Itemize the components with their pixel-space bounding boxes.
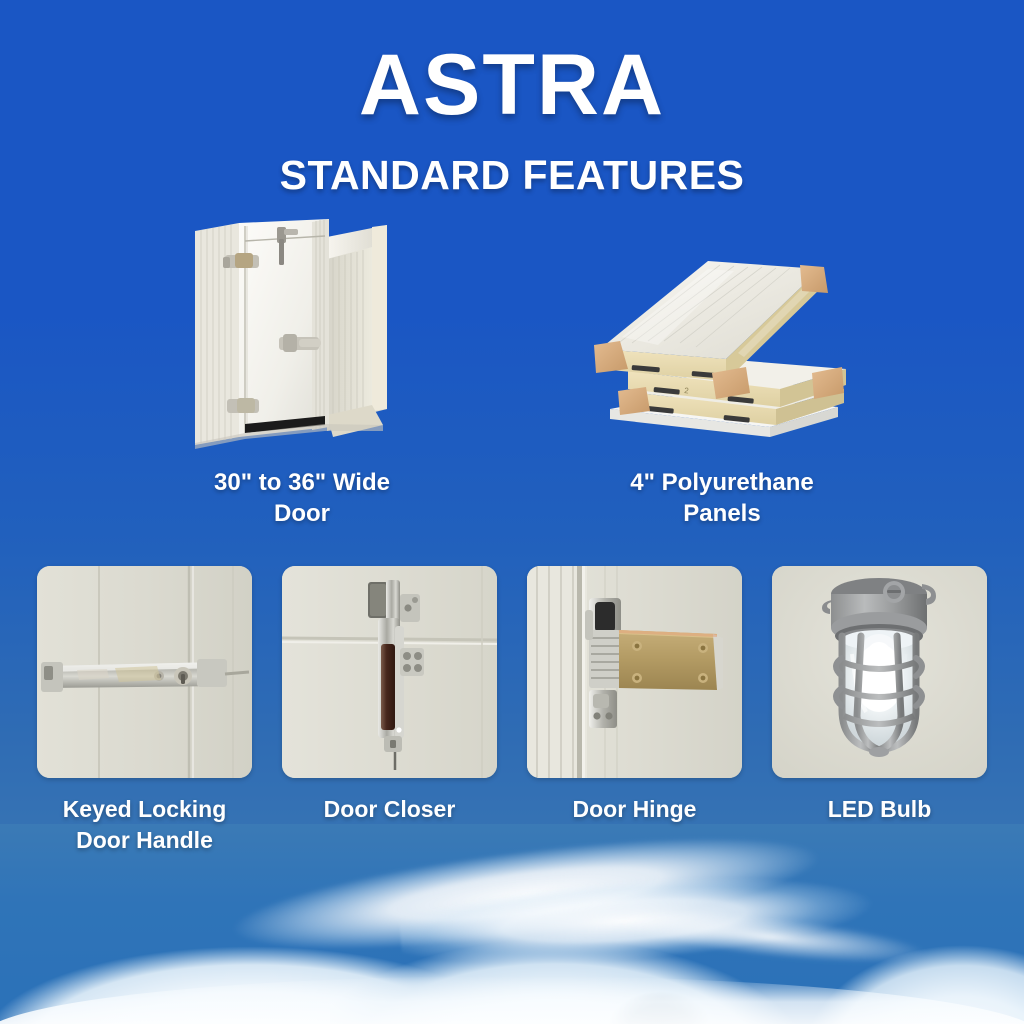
rock-outcrop xyxy=(600,978,720,1024)
caption-line-1: 4" Polyurethane xyxy=(557,467,887,499)
led-vapor-fixture-icon xyxy=(772,566,987,778)
feature-caption: Door Closer xyxy=(282,794,497,825)
walk-in-cooler-icon xyxy=(187,219,417,451)
feature-row-bottom: Keyed Locking Door Handle xyxy=(0,566,1024,856)
feature-caption: Keyed Locking Door Handle xyxy=(37,794,252,856)
corner-protector xyxy=(800,265,828,293)
feature-caption: 30" to 36" Wide Door xyxy=(137,467,467,530)
insulated-panels-icon: 2 xyxy=(588,241,856,451)
door-latch-icon xyxy=(37,566,252,778)
caption-line-2: Door Handle xyxy=(37,825,252,856)
closer-mount-plate xyxy=(400,648,424,676)
door-hinge-bottom xyxy=(227,398,259,413)
feature-tile-door-closer: Door Closer xyxy=(282,566,497,856)
hinge-brass-plate xyxy=(619,630,723,690)
door-hinge-photo xyxy=(527,566,742,778)
caption-line-1: LED Bulb xyxy=(772,794,987,825)
door-hinge-icon xyxy=(527,566,742,778)
lenticular-cloud-secondary xyxy=(397,845,963,994)
poster-canvas: ASTRA STANDARD FEATURES xyxy=(0,0,1024,1024)
walk-in-cooler-photo xyxy=(137,219,467,451)
glass-globe xyxy=(842,630,916,748)
closer-piston xyxy=(378,618,404,738)
polyurethane-panels-photo: 2 xyxy=(557,219,887,451)
door-handle-photo xyxy=(37,566,252,778)
feature-caption: LED Bulb xyxy=(772,794,987,825)
cloud-wisp xyxy=(557,880,982,994)
corner-protector xyxy=(618,387,650,415)
feature-caption: 4" Polyurethane Panels xyxy=(557,467,887,530)
feature-card-panels: 2 xyxy=(557,219,887,530)
mountain-peak-center xyxy=(330,874,890,1024)
feature-tile-door-hinge: Door Hinge xyxy=(527,566,742,856)
caption-line-1: Door Closer xyxy=(282,794,497,825)
feature-tile-door-handle: Keyed Locking Door Handle xyxy=(37,566,252,856)
snow-foreground xyxy=(0,976,1024,1024)
feature-card-wide-door: 30" to 36" Wide Door xyxy=(137,219,467,530)
feature-tile-led-bulb: LED Bulb xyxy=(772,566,987,856)
poster-header: ASTRA STANDARD FEATURES xyxy=(0,0,1024,199)
caption-line-1: Door Hinge xyxy=(527,794,742,825)
door-closer-icon xyxy=(282,566,497,778)
mountain-peak-left xyxy=(0,914,520,1024)
mountain-peak-right xyxy=(764,894,1024,1024)
led-bulb-photo xyxy=(772,566,987,778)
sub-title: STANDARD FEATURES xyxy=(0,152,1024,199)
brand-title: ASTRA xyxy=(0,42,1024,130)
door-closer-photo xyxy=(282,566,497,778)
caption-line-1: 30" to 36" Wide xyxy=(137,467,467,499)
door-handle-top xyxy=(223,253,259,268)
caption-line-1: Keyed Locking xyxy=(37,794,252,825)
feature-caption: Door Hinge xyxy=(527,794,742,825)
caption-line-2: Panels xyxy=(557,498,887,530)
feature-row-top: 30" to 36" Wide Door xyxy=(0,219,1024,530)
caption-line-2: Door xyxy=(137,498,467,530)
hinge-knuckle xyxy=(585,598,621,728)
